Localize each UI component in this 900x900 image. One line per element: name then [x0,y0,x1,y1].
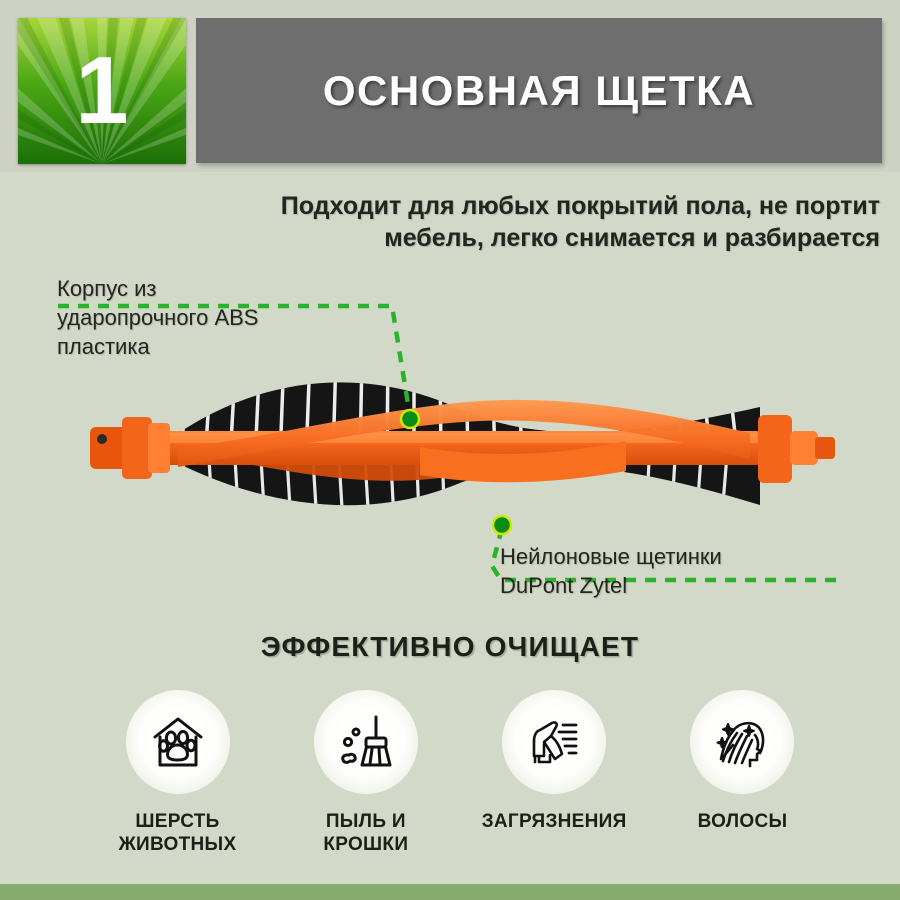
hair-sparkle-icon [690,690,794,794]
feature-list: ШЕРСТЬ ЖИВОТНЫХ ПЫЛЬ И КРОШКИ [95,690,825,856]
title-banner: ОСНОВНАЯ ЩЕТКА [196,18,882,163]
badge-number-label: 1 [18,43,186,139]
feature-item-dust-crumbs: ПЫЛЬ И КРОШКИ [283,690,448,856]
main-brush-illustration [60,355,850,570]
feature-item-dirt: ЗАГРЯЗНЕНИЯ [472,690,637,856]
right-end-cap [758,415,835,483]
product-image [60,355,850,570]
subtitle-line-2: мебель, легко снимается и разбирается [140,222,880,254]
footer-green-strip [0,884,900,900]
left-end-cap [90,417,170,479]
subtitle-text: Подходит для любых покрытий пола, не пор… [140,190,880,254]
feature-item-hair: ВОЛОСЫ [660,690,825,856]
feature-item-pet-hair: ШЕРСТЬ ЖИВОТНЫХ [95,690,260,856]
feature-label-dust-crumbs: ПЫЛЬ И КРОШКИ [323,810,408,856]
page-title: ОСНОВНАЯ ЩЕТКА [323,67,755,115]
feature-label-pet-hair: ШЕРСТЬ ЖИВОТНЫХ [119,810,237,856]
hand-wipe-cloth-icon [502,690,606,794]
step-number-badge: 1 [18,18,186,164]
pet-house-paw-icon [126,690,230,794]
feature-label-dirt: ЗАГРЯЗНЕНИЯ [482,810,627,833]
feature-label-hair: ВОЛОСЫ [698,810,788,833]
broom-dust-icon [314,690,418,794]
infographic-page: 1 ОСНОВНАЯ ЩЕТКА Подходит для любых покр… [0,0,900,900]
annotation-abs-housing: Корпус из ударопрочного ABS пластика [57,274,357,361]
subtitle-line-1: Подходит для любых покрытий пола, не пор… [140,190,880,222]
effective-cleaning-heading: ЭФФЕКТИВНО ОЧИЩАЕТ [0,631,900,663]
annotation-nylon-bristles: Нейлоновые щетинки DuPont Zytel [500,542,840,600]
